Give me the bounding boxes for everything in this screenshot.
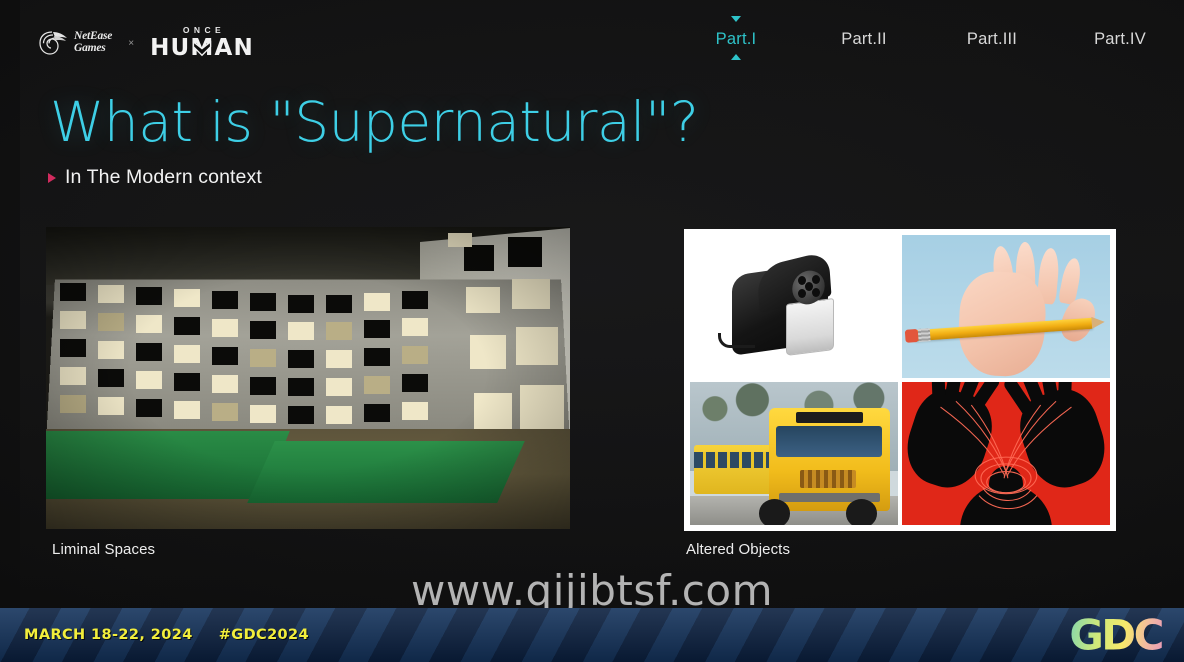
altered-objects-caption: Altered Objects — [686, 541, 790, 558]
puppet-strings-image — [902, 382, 1110, 525]
red-strings-icon — [902, 382, 1110, 522]
gdc-footer-bar: MARCH 18-22, 2024 #GDC2024 GDC — [0, 608, 1184, 662]
tab-part-1-label: Part.I — [716, 30, 757, 48]
altered-objects-image-grid — [684, 229, 1116, 531]
once-human-title: HUMAN — [150, 37, 254, 60]
netease-games-logo: NetEase Games — [38, 30, 112, 56]
presentation-slide: NetEase Games × ONCE HUMAN Part.I — [0, 0, 1184, 662]
brand-separator: × — [125, 38, 137, 49]
netease-feather-icon — [38, 30, 68, 56]
page-subtitle: In The Modern context — [65, 166, 262, 189]
pencil-sharpener-image — [690, 235, 898, 378]
page-title: What is "Supernatural"? — [50, 92, 698, 153]
slide-header: NetEase Games × ONCE HUMAN Part.I — [0, 0, 1184, 78]
hand-with-pencil-image — [902, 235, 1110, 378]
footer-hashtag: #GDC2024 — [219, 627, 309, 643]
liminal-spaces-caption: Liminal Spaces — [52, 541, 155, 558]
tab-part-3[interactable]: Part.III — [928, 16, 1056, 49]
tab-part-3-label: Part.III — [967, 30, 1017, 48]
netease-wordmark: NetEase Games — [74, 31, 112, 54]
gdc-logo: GDC — [1069, 611, 1162, 660]
liminal-spaces-image — [46, 227, 570, 529]
tab-part-4[interactable]: Part.IV — [1056, 16, 1184, 49]
tab-marker-down-icon — [731, 16, 741, 22]
tab-marker-up-icon — [731, 54, 741, 60]
tab-part-2-label: Part.II — [841, 30, 886, 48]
school-bus-image — [690, 382, 898, 525]
tab-part-4-label: Part.IV — [1094, 30, 1146, 48]
once-human-glyph-icon — [193, 39, 212, 58]
once-human-logo: ONCE HUMAN — [150, 26, 254, 61]
triangle-right-icon — [48, 173, 56, 183]
footer-event-info: MARCH 18-22, 2024 #GDC2024 — [24, 627, 309, 643]
part-navigation[interactable]: Part.I Part.II Part.III Part.IV — [672, 16, 1184, 49]
footer-dates: MARCH 18-22, 2024 — [24, 627, 193, 643]
once-human-subtitle: ONCE — [179, 26, 225, 35]
subtitle-row: In The Modern context — [48, 166, 262, 189]
netease-line-2: Games — [74, 43, 112, 55]
tab-part-1[interactable]: Part.I — [672, 16, 800, 49]
brand-lockup: NetEase Games × ONCE HUMAN — [38, 22, 254, 64]
tab-part-2[interactable]: Part.II — [800, 16, 928, 49]
